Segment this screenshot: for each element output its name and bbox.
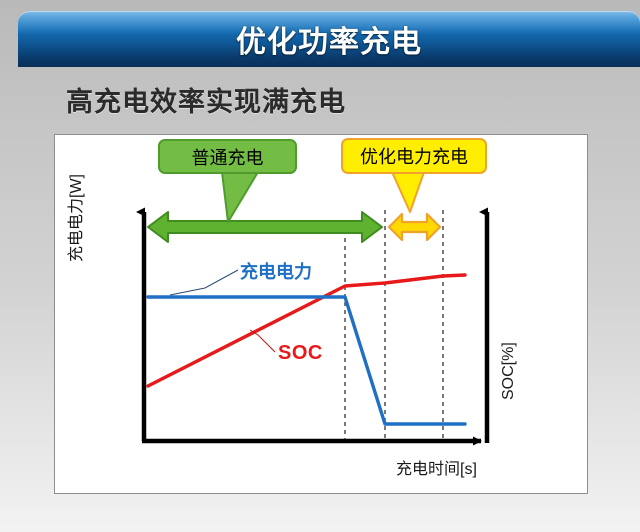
subtitle-text: 高充电效率实现满充电 [66,80,346,119]
y-axis-right-label: SOC[%] [500,280,518,400]
callout-optimized-label: 优化电力充电 [360,143,468,169]
x-axis-label: 充电时间[s] [396,455,477,479]
callout-normal-label: 普通充电 [192,144,264,170]
series-label-power: 充电电力 [240,258,312,284]
page-title: 优化功率充电 [236,17,422,61]
slide-root: 优化功率充电 高充电效率实现满充电 [0,0,640,532]
title-banner: 优化功率充电 [18,11,640,67]
y-axis-left-label: 充电电力[W] [62,132,86,262]
callout-optimized-charging[interactable]: 优化电力充电 [341,138,487,174]
series-label-soc: SOC [278,342,323,365]
callout-normal-charging[interactable]: 普通充电 [158,139,297,174]
